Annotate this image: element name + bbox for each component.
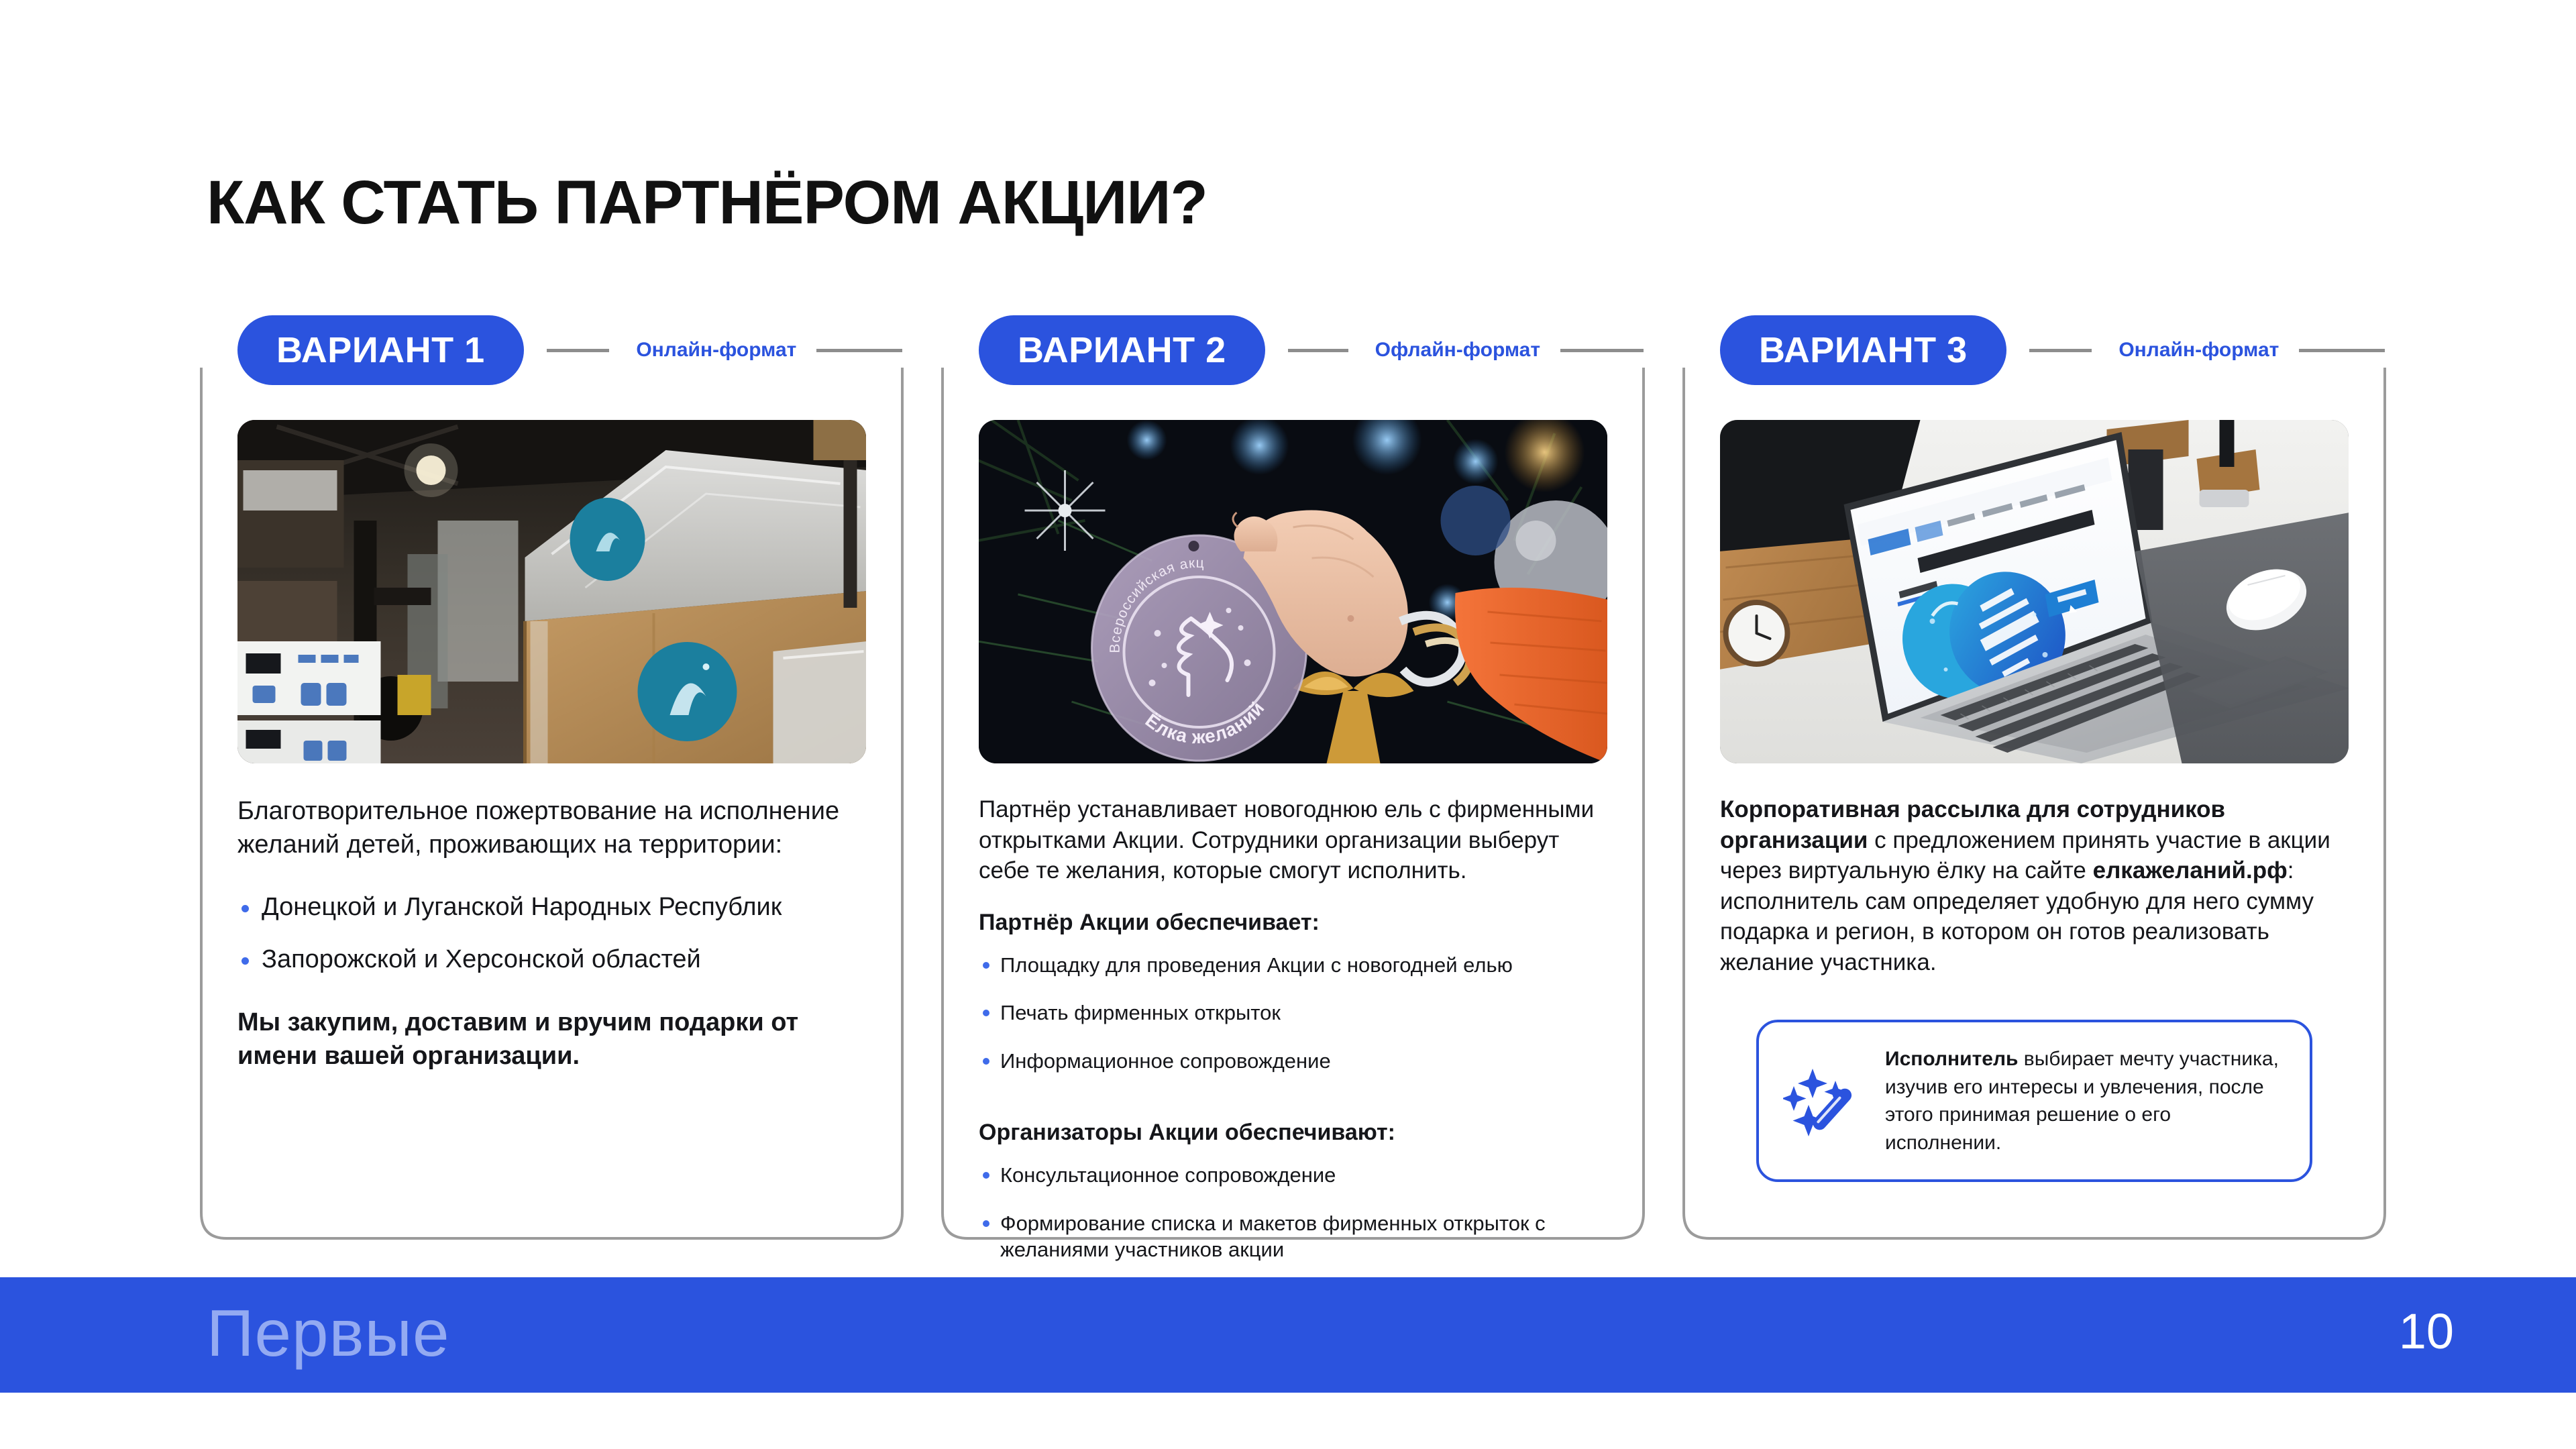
card-body-2: Всероссийская акция Ёлка желаний (943, 385, 1644, 1240)
list-item: Печать фирменных открыток (979, 1000, 1607, 1026)
list-item: Формирование списка и макетов фирменных … (979, 1210, 1607, 1263)
format-tag-2: Офлайн-формат (1364, 339, 1551, 362)
card-1-bullets: Донецкой и Луганской Народных Республик … (237, 891, 866, 976)
card-1-closing: Мы закупим, доставим и вручим подарки от… (237, 1006, 866, 1073)
card-text-2: Партнёр устанавливает новогоднюю ель с ф… (979, 794, 1607, 1285)
list-item: Площадку для проведения Акции с новогодн… (979, 952, 1607, 979)
list-item: Донецкой и Луганской Народных Республик (237, 891, 866, 924)
slide: КАК СТАТЬ ПАРТНЁРОМ АКЦИИ? ВАРИАНТ 1 Онл… (0, 0, 2576, 1449)
variant-badge-1[interactable]: ВАРИАНТ 1 (237, 315, 524, 385)
card-2-intro: Партнёр устанавливает новогоднюю ель с ф… (979, 794, 1607, 886)
magic-wand-sparkles-icon (1783, 1063, 1862, 1138)
brand-logo: Первые (207, 1300, 449, 1366)
christmas-tree-ornament-photo: Всероссийская акция Ёлка желаний (979, 420, 1607, 763)
variant-card-3: ВАРИАНТ 3 Онлайн-формат (1684, 334, 2385, 1240)
laptop-desk-website-photo (1720, 420, 2349, 763)
header-rule-left-2 (1288, 349, 1348, 352)
card-header-1: ВАРИАНТ 1 Онлайн-формат (201, 315, 902, 385)
executor-callout-text: Исполнитель выбирает мечту участника, из… (1885, 1045, 2283, 1157)
page-number: 10 (2399, 1307, 2454, 1356)
executor-callout: Исполнитель выбирает мечту участника, из… (1756, 1020, 2312, 1182)
card-body-3: Корпоративная рассылка для сотрудников о… (1684, 385, 2385, 1240)
header-rule-right-2 (1560, 349, 1644, 352)
format-tag-3: Онлайн-формат (2108, 339, 2290, 362)
card-body-1: Благотворительное пожертвование на испол… (201, 385, 902, 1240)
variant-badge-2[interactable]: ВАРИАНТ 2 (979, 315, 1265, 385)
variant-card-1: ВАРИАНТ 1 Онлайн-формат (201, 334, 902, 1240)
header-rule-left-1 (547, 349, 610, 352)
card-2-section-2-bullets: Консультационное сопровождение Формирова… (979, 1162, 1607, 1263)
variant-card-2: ВАРИАНТ 2 Офлайн-формат (943, 334, 1644, 1240)
warehouse-boxes-photo (237, 420, 866, 763)
header-rule-right-3 (2299, 349, 2385, 352)
variant-badge-3[interactable]: ВАРИАНТ 3 (1720, 315, 2006, 385)
list-item: Запорожской и Херсонской областей (237, 943, 866, 976)
card-3-body: Корпоративная рассылка для сотрудников о… (1720, 794, 2349, 977)
card-2-section-1-title: Партнёр Акции обеспечивает: (979, 908, 1607, 937)
card-header-3: ВАРИАНТ 3 Онлайн-формат (1684, 315, 2385, 385)
header-rule-right-1 (816, 349, 902, 352)
card-text-1: Благотворительное пожертвование на испол… (237, 794, 866, 1213)
list-item: Информационное сопровождение (979, 1048, 1607, 1075)
format-tag-1: Онлайн-формат (625, 339, 807, 362)
list-item: Консультационное сопровождение (979, 1162, 1607, 1189)
card-3-bold-2: елкажеланий.рф (2093, 857, 2288, 883)
callout-bold-lead: Исполнитель (1885, 1048, 2018, 1070)
card-1-intro: Благотворительное пожертвование на испол… (237, 794, 866, 861)
page-title: КАК СТАТЬ ПАРТНЁРОМ АКЦИИ? (207, 168, 1207, 238)
card-text-3: Корпоративная рассылка для сотрудников о… (1720, 794, 2349, 1213)
card-header-2: ВАРИАНТ 2 Офлайн-формат (943, 315, 1644, 385)
header-rule-left-3 (2029, 349, 2092, 352)
card-2-section-2-title: Организаторы Акции обеспечивают: (979, 1118, 1607, 1147)
card-2-section-1-bullets: Площадку для проведения Акции с новогодн… (979, 952, 1607, 1075)
variants-row: ВАРИАНТ 1 Онлайн-формат (201, 334, 2385, 1240)
